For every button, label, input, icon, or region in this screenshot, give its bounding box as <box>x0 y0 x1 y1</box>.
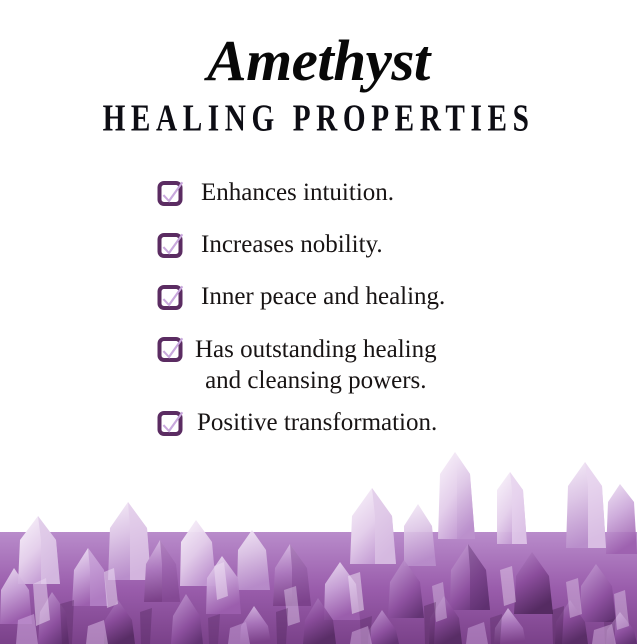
list-item: Positive transformation. <box>0 408 637 438</box>
list-item-label: Positive transformation. <box>197 408 437 438</box>
list-item-label: Has outstanding healing and cleansing po… <box>195 334 437 396</box>
checkbox-checked-icon <box>157 408 185 438</box>
list-item: Inner peace and healing. <box>0 282 637 312</box>
list-item: Increases nobility. <box>0 230 637 260</box>
list-item-label: Enhances intuition. <box>201 178 394 208</box>
page-title: Amethyst <box>0 30 637 92</box>
page-subtitle: HEALING PROPERTIES <box>45 98 593 141</box>
healing-properties-list: Enhances intuition. Increases nobility. … <box>0 178 637 438</box>
checkbox-checked-icon <box>157 334 185 364</box>
list-item-label: Inner peace and healing. <box>201 282 445 312</box>
checkbox-checked-icon <box>157 178 185 208</box>
list-item-label: Increases nobility. <box>201 230 383 260</box>
list-item: Enhances intuition. <box>0 178 637 208</box>
checkbox-checked-icon <box>157 282 185 312</box>
amethyst-crystal-cluster <box>0 444 637 644</box>
list-item: Has outstanding healing and cleansing po… <box>0 334 637 396</box>
amethyst-healing-properties-poster: Amethyst HEALING PROPERTIES Enhances int… <box>0 0 637 644</box>
checkbox-checked-icon <box>157 230 185 260</box>
title-block: Amethyst HEALING PROPERTIES <box>0 30 637 136</box>
